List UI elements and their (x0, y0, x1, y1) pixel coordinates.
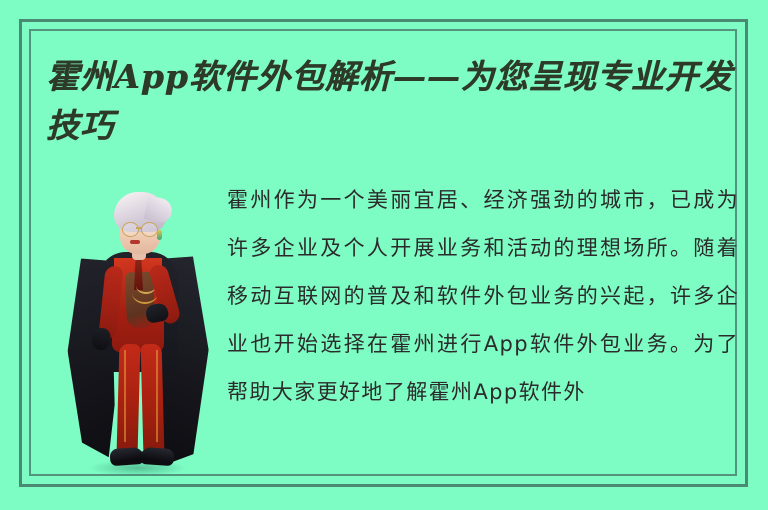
earring (157, 230, 162, 240)
trouser-seam-right (156, 350, 158, 442)
lips (130, 240, 140, 244)
character-illustration (62, 186, 214, 486)
shoe-right (139, 447, 174, 466)
glasses-lens-left (122, 222, 139, 237)
article-body-text: 霍州作为一个美丽宜居、经济强劲的城市，已成为许多企业及个人开展业务和活动的理想场… (227, 176, 739, 416)
trouser-seam-left (124, 350, 126, 442)
page-title: 霍州App软件外包解析——为您呈现专业开发技巧 (46, 52, 752, 150)
glasses-bridge (136, 227, 142, 229)
poster-canvas: 霍州App软件外包解析——为您呈现专业开发技巧 霍州作为一个美丽宜居、经济强劲的 (0, 0, 768, 510)
trouser-leg-right (141, 344, 165, 455)
glasses-lens-right (141, 222, 158, 237)
trouser-leg-left (117, 344, 141, 455)
hair-sweep (144, 196, 174, 225)
